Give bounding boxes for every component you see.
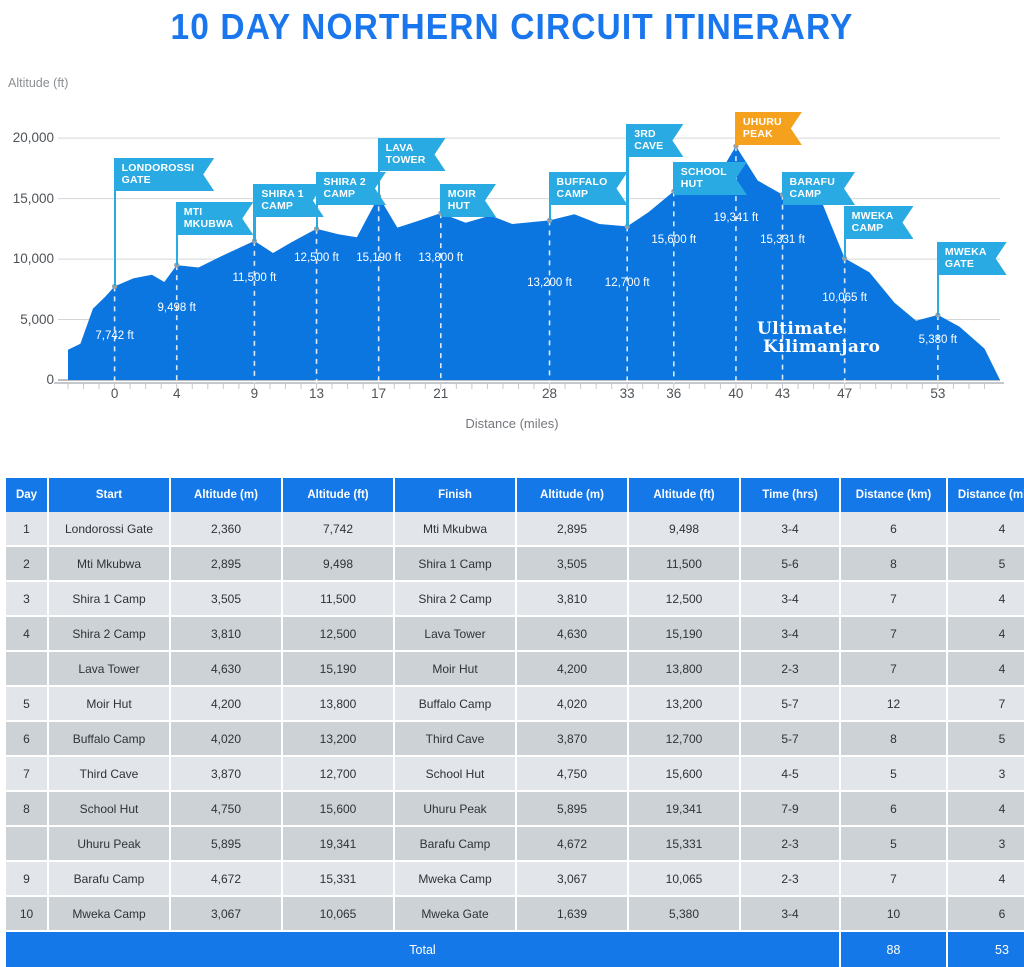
table-cell: 4,200 (516, 651, 628, 686)
table-cell: 2-3 (740, 651, 840, 686)
table-cell: 15,331 (628, 826, 740, 861)
watermark-line-2: Kilimanjaro (763, 338, 880, 356)
table-cell: 1 (6, 512, 48, 546)
table-cell: 4 (947, 861, 1024, 896)
table-cell: 4 (947, 616, 1024, 651)
table-row: Uhuru Peak5,89519,341Barafu Camp4,67215,… (6, 826, 1024, 861)
table-cell: Shira 1 Camp (48, 581, 170, 616)
table-cell: 7,742 (282, 512, 394, 546)
table-cell: 4 (947, 512, 1024, 546)
table-total-row: Total8853 (6, 931, 1024, 967)
table-cell: 3,505 (170, 581, 282, 616)
table-cell: 3-4 (740, 616, 840, 651)
y-axis-tick-label: 20,000 (0, 130, 54, 145)
table-row: Lava Tower4,63015,190Moir Hut4,20013,800… (6, 651, 1024, 686)
table-cell: Buffalo Camp (48, 721, 170, 756)
x-axis-tick-label: 28 (530, 386, 570, 401)
table-cell: Shira 1 Camp (394, 546, 516, 581)
waypoint-altitude-label: 15,600 ft (651, 234, 696, 246)
table-row: 5Moir Hut4,20013,800Buffalo Camp4,02013,… (6, 686, 1024, 721)
table-cell: 10 (840, 896, 947, 931)
table-cell: 6 (947, 896, 1024, 931)
table-cell: 8 (6, 791, 48, 826)
table-header-cell: Altitude (m) (516, 478, 628, 512)
itinerary-table: DayStartAltitude (m)Altitude (ft)FinishA… (6, 478, 1024, 967)
waypoint-altitude-label: 10,065 ft (822, 292, 867, 304)
table-cell: 2,895 (516, 512, 628, 546)
y-axis-tick-label: 15,000 (0, 191, 54, 206)
table-cell: 8 (840, 721, 947, 756)
table-cell: 11,500 (282, 581, 394, 616)
table-cell: 4,630 (170, 651, 282, 686)
table-header-cell: Altitude (m) (170, 478, 282, 512)
table-cell: 15,600 (628, 756, 740, 791)
table-cell: Mti Mkubwa (48, 546, 170, 581)
table-cell: 9,498 (628, 512, 740, 546)
table-row: 6Buffalo Camp4,02013,200Third Cave3,8701… (6, 721, 1024, 756)
table-cell: 12,700 (282, 756, 394, 791)
table-cell: 3,810 (170, 616, 282, 651)
table-header-cell: Distance (miles) (947, 478, 1024, 512)
table-cell: 12,500 (282, 616, 394, 651)
flag-label: BUFFALO CAMP (550, 172, 628, 205)
table-cell: 1,639 (516, 896, 628, 931)
table-cell: Third Cave (48, 756, 170, 791)
x-axis-tick-label: 43 (763, 386, 803, 401)
table-cell: Lava Tower (394, 616, 516, 651)
table-cell: 19,341 (282, 826, 394, 861)
table-cell: 15,600 (282, 791, 394, 826)
table-cell: 15,190 (628, 616, 740, 651)
table-cell: Uhuru Peak (394, 791, 516, 826)
flag-label: MTI MKUBWA (177, 202, 254, 235)
table-cell: 3-4 (740, 896, 840, 931)
table-header-cell: Finish (394, 478, 516, 512)
table-cell: Third Cave (394, 721, 516, 756)
table-row: 4Shira 2 Camp3,81012,500Lava Tower4,6301… (6, 616, 1024, 651)
y-axis-tick-label: 5,000 (0, 312, 54, 327)
table-cell: 7 (947, 686, 1024, 721)
x-axis-tick-label: 21 (421, 386, 461, 401)
x-axis-title: Distance (miles) (0, 416, 1024, 431)
elevation-chart: Altitude (ft) 05,00010,00015,00020,00004… (0, 62, 1024, 452)
table-cell: 13,800 (282, 686, 394, 721)
waypoint-altitude-label: 15,331 ft (760, 234, 805, 246)
table-cell: 5 (947, 721, 1024, 756)
chart-plot-area: 05,00010,00015,00020,0000491317212833364… (0, 62, 1024, 402)
waypoint-altitude-label: 7,742 ft (95, 330, 133, 342)
table-cell: 2-3 (740, 826, 840, 861)
table-cell: 3,810 (516, 581, 628, 616)
table-cell: 4,020 (170, 721, 282, 756)
table-cell: 3,870 (516, 721, 628, 756)
table-header-cell: Day (6, 478, 48, 512)
total-distance-miles: 53 (947, 931, 1024, 967)
table-row: 1Londorossi Gate2,3607,742Mti Mkubwa2,89… (6, 512, 1024, 546)
table-cell: Moir Hut (48, 686, 170, 721)
table-cell: 4,672 (170, 861, 282, 896)
table-cell: 4 (947, 651, 1024, 686)
table-cell: 2,360 (170, 512, 282, 546)
table-header-cell: Altitude (ft) (282, 478, 394, 512)
table-cell: Buffalo Camp (394, 686, 516, 721)
table-body: 1Londorossi Gate2,3607,742Mti Mkubwa2,89… (6, 512, 1024, 967)
watermark-line-1: Ultimate (757, 320, 880, 338)
table-cell: 3-4 (740, 512, 840, 546)
waypoint-altitude-label: 12,500 ft (294, 252, 339, 264)
table-cell: 3,505 (516, 546, 628, 581)
table-cell: 7 (840, 616, 947, 651)
table-cell: 5,380 (628, 896, 740, 931)
table-cell: 9,498 (282, 546, 394, 581)
x-axis-tick-label: 33 (607, 386, 647, 401)
table-row: 8School Hut4,75015,600Uhuru Peak5,89519,… (6, 791, 1024, 826)
y-axis-tick-label: 10,000 (0, 251, 54, 266)
table-cell: 2-3 (740, 861, 840, 896)
table-cell: 5-7 (740, 686, 840, 721)
x-axis-tick-label: 13 (297, 386, 337, 401)
table-cell: 8 (840, 546, 947, 581)
table-cell: 3 (947, 826, 1024, 861)
table-cell: 5 (6, 686, 48, 721)
itinerary-table-wrap: DayStartAltitude (m)Altitude (ft)FinishA… (6, 478, 1018, 967)
table-cell: 13,200 (628, 686, 740, 721)
table-cell: 3,067 (516, 861, 628, 896)
x-axis-tick-label: 17 (359, 386, 399, 401)
waypoint-altitude-label: 5,380 ft (919, 334, 957, 346)
flag-label: LONDOROSSI GATE (115, 158, 215, 191)
table-row: 7Third Cave3,87012,700School Hut4,75015,… (6, 756, 1024, 791)
table-header-cell: Distance (km) (840, 478, 947, 512)
table-cell: 2,895 (170, 546, 282, 581)
x-axis-tick-label: 53 (918, 386, 958, 401)
table-cell: 3,067 (170, 896, 282, 931)
x-axis-tick-label: 36 (654, 386, 694, 401)
table-cell: 9 (6, 861, 48, 896)
ultimate-kilimanjaro-watermark: UltimateKilimanjaro (757, 320, 880, 356)
table-cell: 10,065 (628, 861, 740, 896)
table-cell: Mti Mkubwa (394, 512, 516, 546)
table-cell: 13,200 (282, 721, 394, 756)
waypoint-altitude-label: 13,200 ft (527, 277, 572, 289)
waypoint-altitude-label: 19,341 ft (714, 212, 759, 224)
table-cell: Lava Tower (48, 651, 170, 686)
table-cell: 4,020 (516, 686, 628, 721)
x-axis-tick-label: 0 (95, 386, 135, 401)
table-cell: 4,750 (170, 791, 282, 826)
table-cell: School Hut (394, 756, 516, 791)
table-cell: Londorossi Gate (48, 512, 170, 546)
table-cell: Barafu Camp (394, 826, 516, 861)
table-header-cell: Start (48, 478, 170, 512)
table-cell: 3,870 (170, 756, 282, 791)
table-cell: 6 (840, 791, 947, 826)
table-cell: 12 (840, 686, 947, 721)
waypoint-altitude-label: 13,800 ft (418, 252, 463, 264)
table-cell: Barafu Camp (48, 861, 170, 896)
table-cell: 12,700 (628, 721, 740, 756)
table-header-row: DayStartAltitude (m)Altitude (ft)FinishA… (6, 478, 1024, 512)
table-cell: 15,331 (282, 861, 394, 896)
page-title: 10 DAY NORTHERN CIRCUIT ITINERARY (36, 6, 988, 48)
table-cell: 3 (6, 581, 48, 616)
table-cell (6, 651, 48, 686)
table-header-cell: Time (hrs) (740, 478, 840, 512)
table-cell: 13,800 (628, 651, 740, 686)
table-cell: 5 (947, 546, 1024, 581)
table-cell: 7-9 (740, 791, 840, 826)
table-cell: 7 (840, 861, 947, 896)
table-cell: 4,750 (516, 756, 628, 791)
table-row: 9Barafu Camp4,67215,331Mweka Camp3,06710… (6, 861, 1024, 896)
table-cell: Uhuru Peak (48, 826, 170, 861)
total-distance-km: 88 (840, 931, 947, 967)
table-cell: 5 (840, 756, 947, 791)
table-cell: 4,672 (516, 826, 628, 861)
table-cell: 5 (840, 826, 947, 861)
table-cell: Mweka Gate (394, 896, 516, 931)
table-cell: 4 (6, 616, 48, 651)
table-cell: 5,895 (516, 791, 628, 826)
table-cell: 4 (947, 791, 1024, 826)
table-cell: Shira 2 Camp (48, 616, 170, 651)
waypoint-altitude-label: 9,498 ft (158, 302, 196, 314)
waypoint-altitude-label: 15,190 ft (356, 252, 401, 264)
table-row: 2Mti Mkubwa2,8959,498Shira 1 Camp3,50511… (6, 546, 1024, 581)
table-cell: 5-6 (740, 546, 840, 581)
table-cell: Mweka Camp (48, 896, 170, 931)
waypoint-altitude-label: 11,500 ft (232, 272, 276, 284)
table-header-cell: Altitude (ft) (628, 478, 740, 512)
table-cell: 11,500 (628, 546, 740, 581)
table-cell: 4,200 (170, 686, 282, 721)
table-cell (6, 826, 48, 861)
table-row: 10Mweka Camp3,06710,065Mweka Gate1,6395,… (6, 896, 1024, 931)
x-axis-tick-label: 4 (157, 386, 197, 401)
table-row: 3Shira 1 Camp3,50511,500Shira 2 Camp3,81… (6, 581, 1024, 616)
table-cell: 5-7 (740, 721, 840, 756)
table-cell: 10 (6, 896, 48, 931)
table-cell: 3-4 (740, 581, 840, 616)
total-label: Total (6, 931, 840, 967)
x-axis-tick-label: 9 (234, 386, 274, 401)
table-cell: 4,630 (516, 616, 628, 651)
table-cell: 4 (947, 581, 1024, 616)
infographic-root: 10 DAY NORTHERN CIRCUIT ITINERARY Altitu… (0, 0, 1024, 940)
x-axis-tick-label: 40 (716, 386, 756, 401)
waypoint-altitude-label: 12,700 ft (605, 277, 650, 289)
y-axis-tick-label: 0 (0, 372, 54, 387)
table-cell: School Hut (48, 791, 170, 826)
x-axis-tick-label: 47 (825, 386, 865, 401)
table-cell: 10,065 (282, 896, 394, 931)
table-cell: 2 (6, 546, 48, 581)
table-cell: 6 (840, 512, 947, 546)
table-cell: 12,500 (628, 581, 740, 616)
table-cell: Moir Hut (394, 651, 516, 686)
table-cell: Mweka Camp (394, 861, 516, 896)
table-cell: 19,341 (628, 791, 740, 826)
table-cell: 7 (840, 581, 947, 616)
table-cell: 4-5 (740, 756, 840, 791)
table-cell: 7 (6, 756, 48, 791)
table-cell: 5,895 (170, 826, 282, 861)
table-cell: 6 (6, 721, 48, 756)
table-cell: 7 (840, 651, 947, 686)
table-cell: Shira 2 Camp (394, 581, 516, 616)
table-cell: 3 (947, 756, 1024, 791)
table-cell: 15,190 (282, 651, 394, 686)
